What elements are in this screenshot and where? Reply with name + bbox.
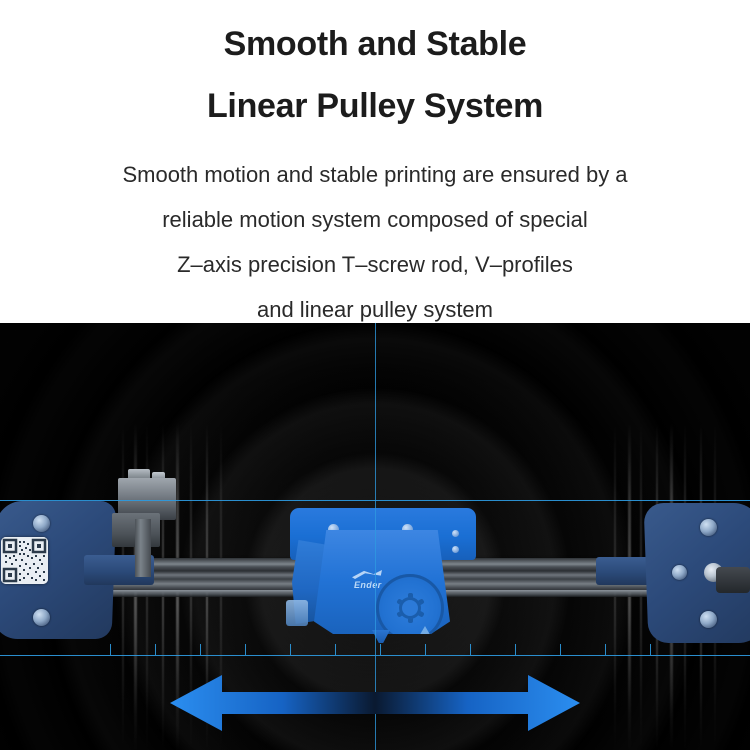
left-motion-arrow [170,675,375,731]
ender-logo-text: Ender [354,580,382,590]
left-bracket-bolt-bottom [33,609,50,626]
scale-tick [650,644,651,655]
warning-triangle-icon [418,626,432,638]
print-head-front-shroud: Ender [314,530,450,634]
backplate-bolt-far-right-top [452,530,459,537]
scale-tick [155,644,156,655]
description-line-2: reliable motion system composed of speci… [0,197,750,242]
belt-tensioner-block [716,567,750,593]
scale-tick [335,644,336,655]
print-head-assembly: Ender [286,508,478,653]
right-bracket-bolt-center [672,565,687,580]
text-panel: Smooth and Stable Linear Pulley System S… [0,0,750,323]
extruder-mount-post [135,519,151,577]
qr-code-sticker [1,537,48,584]
scale-tick [605,644,606,655]
scale-tick [200,644,201,655]
scale-tick [245,644,246,655]
right-motion-arrow [375,675,580,731]
fan-hub [399,597,421,619]
right-bracket-bolt-bottom [700,611,717,628]
headline-line-2: Linear Pulley System [0,76,750,136]
right-bracket-bolt-top [700,519,717,536]
scale-tick [560,644,561,655]
ender-swoosh-icon [352,570,382,579]
scale-tick [425,644,426,655]
product-feature-card: Smooth and Stable Linear Pulley System S… [0,0,750,750]
description-line-3: Z–axis precision T–screw rod, V–profiles [0,242,750,287]
description-paragraph: Smooth motion and stable printing are en… [0,152,750,332]
filament-clamp [286,600,308,626]
scale-tick [110,644,111,655]
scale-tick [290,644,291,655]
scale-tick [380,644,381,655]
left-bracket-bolt-top [33,515,50,532]
scale-tick [515,644,516,655]
description-line-1: Smooth motion and stable printing are en… [0,152,750,197]
product-photo-panel: Ender [0,323,750,750]
headline-line-1: Smooth and Stable [0,14,750,74]
backplate-bolt-far-right-bottom [452,546,459,553]
scale-tick [470,644,471,655]
